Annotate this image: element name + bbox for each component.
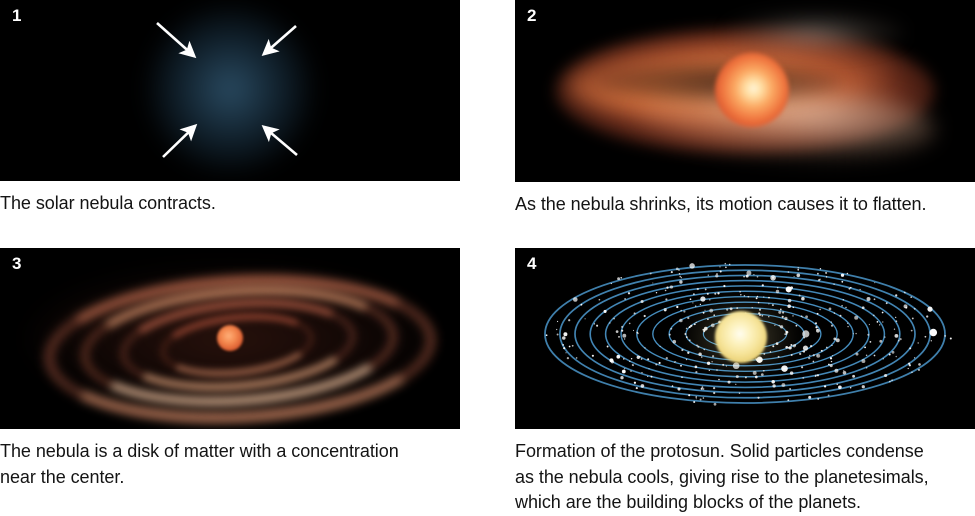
planetesimal [689,263,695,269]
panel-4-image: 4 [515,248,975,429]
planetesimal [845,307,846,308]
panel-1-image: 1 [0,0,460,181]
planetesimal [829,308,832,311]
planetesimal [932,329,933,330]
contraction-arrows [0,0,460,181]
planetesimal [825,272,827,274]
planetesimal [660,346,661,347]
planetesimal [629,361,631,363]
planetesimal [739,291,741,293]
planetesimal [787,304,791,308]
planetesimal [641,372,643,374]
planetesimal [557,334,559,336]
planetesimal [630,370,631,371]
planetesimal [832,355,833,356]
planetesimal [692,302,693,303]
planetesimal [776,290,779,293]
planetesimal [672,385,674,387]
planetesimal [636,332,637,333]
planetesimal [796,273,800,277]
planetesimal [810,345,812,347]
panel-3-image: 3 [0,248,460,429]
planetesimal [841,274,844,277]
planetesimal [666,287,668,289]
planetesimal [824,385,826,387]
planetesimal [896,320,898,322]
planetesimal [670,285,673,288]
planetesimal [709,299,710,300]
planetesimal [596,325,598,327]
planetesimal [892,351,895,354]
panel-1: 1 The solar nebula contracts. [0,0,460,217]
planetesimal [763,296,764,297]
planetesimal [622,334,626,338]
planetesimal [777,287,778,288]
planetesimal [874,298,876,300]
planetesimal [695,371,697,373]
planetesimal [866,367,868,369]
planetesimal [666,357,668,359]
planetesimal [624,368,625,369]
planetesimal [695,396,697,398]
planetesimal [687,317,689,319]
planetesimal [817,273,819,275]
planetesimal [556,329,557,330]
planetesimal [894,329,895,330]
planetesimal [632,364,634,366]
planetesimal [708,274,709,275]
planetesimal [788,299,792,303]
planetesimal [889,381,891,383]
planetesimal [683,311,685,313]
planetesimal [624,298,626,300]
planetesimal [609,358,613,362]
planetesimal [641,384,645,388]
planetesimal [849,288,851,290]
panel-1-caption: The solar nebula contracts. [0,191,460,217]
planetesimal [703,388,705,390]
planetesimal [572,345,574,347]
planetesimal [799,295,801,297]
planetesimal [723,285,725,287]
planetesimal [621,330,623,332]
planetesimal [696,398,697,399]
planetesimal [874,355,876,357]
planetesimal [864,347,866,349]
planetesimal [576,357,578,359]
planetesimal [546,334,548,336]
planetesimal [831,325,833,327]
planetesimal [801,297,805,301]
flattening-nebula [515,0,975,182]
planetesimal [622,370,626,374]
arrow-top-right-icon [264,26,296,54]
planetesimal [697,288,699,290]
planetesimal [879,340,882,343]
planetesimal [816,354,820,358]
planetesimal [676,306,678,308]
planetesimal [629,323,631,325]
planetesimal [895,294,897,296]
planetesimal [904,292,906,294]
planetesimal [802,317,803,318]
planetesimal [950,337,952,339]
planetesimal [791,354,793,356]
planetesimal [647,376,648,377]
planetesimal [799,353,801,355]
planetesimal [568,319,570,321]
planetesimal [815,326,817,328]
planetesimal [914,308,916,310]
planetesimal [695,305,696,306]
planetesimal [908,363,910,365]
panel-4: 4 Formation of the protosun. Solid parti… [515,248,975,516]
planetesimal [861,359,865,363]
planetesimal [686,359,687,360]
planetesimal [700,304,701,305]
planetesimal [573,297,578,302]
planetesimal [891,379,893,381]
planetesimal [841,281,843,283]
planetesimal [788,271,790,273]
planetesimal [866,355,868,357]
planetesimal [808,357,810,359]
panel-1-number: 1 [12,7,22,24]
planetesimal [789,388,791,390]
planetesimal [884,336,885,337]
planetesimal [883,358,884,359]
planetesimal [562,344,564,346]
planetesimal [771,380,775,384]
planetesimal [705,288,707,290]
planetesimal [816,329,817,330]
planetesimal [895,334,899,338]
planetesimal [690,298,692,300]
panel-4-caption: Formation of the protosun. Solid particl… [515,439,975,516]
planetesimal [882,321,883,322]
planetesimal [826,276,827,277]
planetesimal [826,347,828,349]
planetesimal [831,361,832,362]
planetesimal [802,377,804,379]
planetesimal [620,277,622,279]
planetesimal [567,357,569,359]
planetesimal [797,267,799,269]
planetesimal [818,279,820,281]
planetesimal [616,355,620,359]
planetesimal [801,366,803,368]
planetesimal [701,386,703,388]
planetesimal [716,273,717,274]
planetesimal [701,388,703,390]
planetesimal [813,354,815,356]
planetesimal [620,376,623,379]
planetesimal [786,286,792,292]
planetesimal [714,403,717,406]
planetesimal [670,328,672,330]
planetesimal [569,346,571,348]
planetesimal [838,385,842,389]
planetesimal [617,277,620,280]
disk-core [217,325,243,351]
planetesimal [695,366,698,369]
planetesimal [927,307,932,312]
planetesimal [700,296,705,301]
planetesimal [563,332,567,336]
planetesimal [623,358,625,360]
planetesimal [725,263,727,265]
planetesimal [772,384,775,387]
planetesimal [594,323,595,324]
planetesimal [873,315,875,317]
arrow-top-left-icon [157,23,194,56]
flat-disk-upper-haze [725,13,905,53]
planetesimal [671,271,673,273]
planetesimal [792,306,794,308]
planetesimal [703,397,705,399]
planetesimal [862,306,865,309]
planetesimal [713,392,715,394]
planetesimal [607,346,609,348]
planetesimal [728,381,731,384]
planetesimal [911,330,913,332]
planetesimal [656,292,657,293]
planetesimal [581,304,583,306]
planetesimal [665,290,667,292]
planetesimal [833,284,834,285]
planetesimal [693,401,695,403]
planetesimal [803,346,808,351]
planetesimal [854,316,858,320]
planetesimal [830,357,832,359]
planetesimal [674,361,675,362]
planetesimal [719,266,720,267]
planetesimal [762,284,764,286]
planetesimal [834,369,838,373]
planetesimal [911,371,913,373]
planetesimal [926,315,928,317]
planetesimal [611,283,612,284]
planetesimal [931,340,932,341]
planetesimal [856,353,859,356]
planetesimal [805,315,808,318]
planetesimal [592,355,594,357]
planetesimal [665,298,667,300]
planetesimal [633,330,634,331]
planetesimal [621,326,623,328]
planetesimal [815,375,817,377]
planetesimal [867,334,869,336]
planetesimal [713,387,715,389]
planetesimal [618,336,620,338]
planetesimal [817,398,819,400]
protosun [715,311,767,363]
planetesimal [679,280,682,283]
planetesimal [565,352,566,353]
planetesimal [745,376,747,378]
planetesimal [859,289,860,290]
planetesimal [914,357,915,358]
arrow-bottom-right-icon [264,127,297,155]
planetesimal [828,364,830,366]
planetesimal [840,315,842,317]
planetesimal [757,276,759,278]
planetesimal [870,341,872,343]
planetesimal [833,338,836,341]
planetesimal [715,274,718,277]
planetesimal [904,304,908,308]
planetesimal [790,371,794,375]
planetesimal [877,321,879,323]
planetesimal [836,384,837,385]
planetesimal [659,362,661,364]
planetesimal [770,275,776,281]
planetesimal [599,299,601,301]
planetesimal [781,365,788,372]
planetesimal [641,358,643,360]
panel-3: 3 The nebula is a disk of matter with a … [0,248,460,490]
planetesimal [563,347,565,349]
planetesimal [720,270,722,272]
planetesimal [718,379,720,381]
planetesimal [743,276,745,278]
planetesimal [909,347,911,349]
planetesimal [803,351,805,353]
planetesimal [787,399,789,401]
planetesimal [944,335,946,337]
planetesimal [676,268,679,271]
planetesimal [884,374,887,377]
panel-4-number: 4 [527,255,537,272]
planetesimal [836,338,840,342]
planetesimal [802,330,809,337]
planetesimal [562,336,566,340]
planetesimal [817,313,819,315]
planetesimal [847,323,848,324]
planetesimal [641,300,644,303]
planetesimal [636,387,638,389]
planetesimal [852,375,855,378]
planetesimal [644,347,645,348]
planetesimal [693,293,695,295]
planetesimal [813,361,815,363]
planetesimal [820,268,821,269]
planetesimal [898,340,900,342]
planetesimal [729,264,730,265]
panel-3-caption: The nebula is a disk of matter with a co… [0,439,460,490]
planetesimal [628,292,630,294]
planetesimal [651,376,653,378]
planetesimal [746,275,749,278]
planetesimal [847,273,849,275]
planetesimal [717,292,719,294]
protostar [715,53,789,127]
planetesimal [912,317,914,319]
nebula-formation-figure: 1 The solar nebula contracts. 2 As the n… [0,0,975,510]
planetesimal [830,364,833,367]
panel-2-number: 2 [527,7,537,24]
planetesimal [648,368,649,369]
planetesimal [850,287,851,288]
planetesimal [735,384,736,385]
planetesimal [647,358,649,360]
planetesimal [650,273,652,275]
planetesimal [740,294,742,296]
planetesimal [841,305,843,307]
planetesimal [557,321,558,322]
planetesimal [613,318,615,320]
planetesimal [882,312,884,314]
planetesimal [637,356,640,359]
planetesimal [679,273,680,274]
panel-2: 2 As the nebula shrinks, its motion caus… [515,0,975,218]
planetesimal [677,387,680,390]
planetesimal [634,312,636,314]
planetesimal [681,376,683,378]
planetesimal [886,302,888,304]
planetesimal [819,309,821,311]
planetesimal [585,318,586,319]
planetesimal [681,349,683,351]
planetesimal [831,321,832,322]
planetesimal [768,297,770,299]
planetesimal [899,338,901,340]
planetesimal [821,350,823,352]
planetesimal [616,330,619,333]
planetesimal [781,383,785,387]
planetesimal [680,310,682,312]
planetesimal [655,364,657,366]
planetesimal [850,387,851,388]
planetesimal [757,397,759,399]
planetesimal [679,319,683,323]
planetesimal [910,296,912,298]
planetesimal [680,365,682,367]
planetesimal [874,282,875,283]
planetesimal [809,355,810,356]
planetesimal [815,322,817,324]
panel-3-number: 3 [12,255,22,272]
planetesimal [644,315,646,317]
planetesimal [753,274,754,275]
planetesimal [609,322,610,323]
arrow-bottom-left-icon [163,126,195,157]
planetesimal [794,276,795,277]
planetesimal [847,326,848,327]
planetesimal [843,299,844,300]
planetesimal [908,368,909,369]
planetesimal [669,334,671,336]
planetesimal [917,342,918,343]
planetesimal [925,336,927,338]
planetesimal [889,354,891,356]
planetesimal [834,312,835,313]
planetesimal [817,374,819,376]
planetesimal [673,340,677,344]
planetesimal [688,394,690,396]
planetesimal [828,394,830,396]
planetesimal [831,345,832,346]
planetesimal [681,277,682,278]
planetesimal [869,324,870,325]
planetesimal [896,356,897,357]
planetesimal [879,324,880,325]
panel-2-caption: As the nebula shrinks, its motion causes… [515,192,975,218]
matter-disk [0,248,460,429]
planetesimal [862,385,865,388]
planetesimal [604,310,607,313]
planetesimal [631,358,632,359]
